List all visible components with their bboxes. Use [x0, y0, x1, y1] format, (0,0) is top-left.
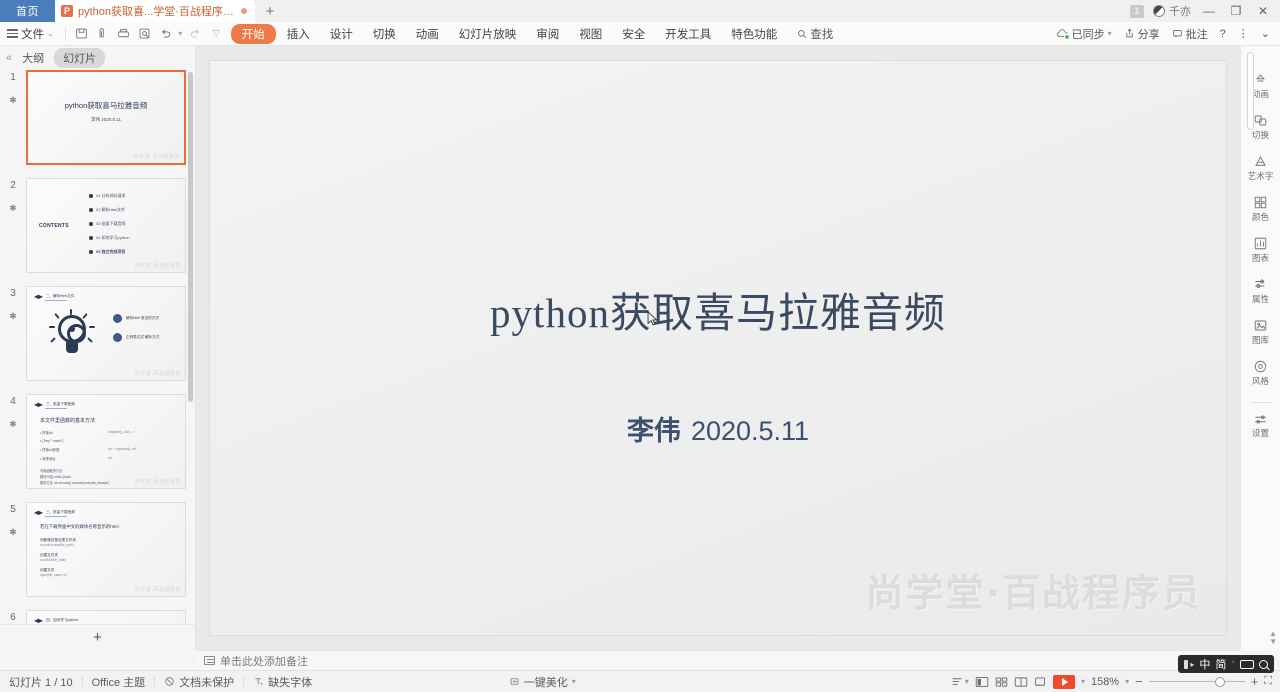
bullet-icon [89, 250, 93, 254]
rail-item-chart[interactable]: 图表 [1252, 236, 1269, 264]
thumb-item-list: 解析html 常见的方式 正则表达式 解析方式 [113, 314, 159, 342]
thumb-watermark: 尚学堂·百战程序员 [134, 153, 180, 160]
wps-presentation-window: 首页 P python获取喜...学堂·百战程序员】 + 1 千亦 — ❐ ✕ … [0, 0, 1280, 692]
code-block-code: os.path.exists(file_path) [40, 543, 177, 547]
comment-icon [1172, 28, 1183, 39]
slide-thumbnail-5[interactable]: 5 ✱ 三、批量下载音频 若在下载界面中文的媒体名称显示的html 判断路径是否… [4, 502, 195, 597]
share-icon [1124, 28, 1135, 39]
notes-view-button[interactable] [1034, 676, 1047, 688]
minimize-button[interactable]: — [1200, 4, 1218, 18]
sync-label: 已同步 [1072, 26, 1105, 42]
thumb-header: 二、解析html文件 [34, 293, 74, 300]
normal-view-button[interactable] [975, 676, 989, 688]
slide-thumbnail-image[interactable]: 三、批量下载音频 本文件里函数的基本方法 • 拼接url urlparse(),… [26, 394, 186, 489]
list-item-label: 正则表达式 解析方式 [126, 335, 159, 340]
graduation-cap-icon [34, 401, 43, 408]
slide-thumbnail-3[interactable]: 3 ✱ 二、解析html文件 [4, 286, 195, 381]
close-button[interactable]: ✕ [1254, 4, 1272, 18]
rail-label: 艺术字 [1248, 170, 1274, 182]
find-label: 查找 [810, 26, 833, 42]
title-bar: 首页 P python获取喜...学堂·百战程序员】 + 1 千亦 — ❐ ✕ [0, 0, 1280, 22]
tab-special-features[interactable]: 特色功能 [722, 24, 786, 44]
header-underline [45, 408, 67, 409]
current-slide[interactable]: python获取喜马拉雅音频 李伟2020.5.11 尚学堂·百战程序员 [209, 60, 1227, 636]
share-label: 分享 [1138, 26, 1160, 42]
slide-meta: 6 ✱ [4, 610, 22, 624]
mouse-cursor [647, 311, 658, 327]
notes-icon [204, 656, 215, 665]
file-menu-button[interactable]: 文件 ⌄ [0, 26, 60, 42]
unsaved-dot-icon [241, 8, 247, 14]
rail-label: 设置 [1252, 427, 1269, 439]
title-bar-right: 1 千亦 — ❐ ✕ [1130, 0, 1280, 22]
rail-item-style[interactable]: 风格 [1252, 359, 1269, 387]
beautify-button[interactable]: 一键美化 ▾ [509, 674, 576, 690]
thumb-header: 三、批量下载音频 [34, 401, 75, 408]
list-item: 01 分析网站请求 [89, 193, 130, 199]
thumb-subtitle: 李伟 2020.5.11 [28, 117, 184, 123]
fit-to-window-button[interactable]: ⛶ [1264, 675, 1272, 688]
thumb-header: 三、批量下载音频 [34, 509, 75, 516]
row-detail: urlparse(), dict, -> [108, 430, 135, 435]
canvas-nav-arrows[interactable]: ▲ ▼ [1269, 630, 1277, 646]
keyboard-icon[interactable] [1240, 660, 1254, 669]
collapse-ribbon-button[interactable]: ⌄ [1257, 25, 1274, 42]
animation-star-icon: ✱ [9, 527, 17, 538]
file-menu-label: 文件 [21, 26, 44, 42]
table-row: • {"key":"value"} [40, 439, 177, 443]
start-slideshow-button[interactable] [1053, 675, 1075, 689]
slide-thumbnail-image[interactable]: python获取喜马拉雅音频 李伟 2020.5.11 尚学堂·百战程序员 [26, 70, 186, 165]
thumb-contents-label: CONTENTS [39, 223, 69, 229]
animation-star-icon: ✱ [9, 203, 17, 214]
save-as-icon[interactable] [92, 24, 113, 44]
share-button[interactable]: 分享 [1120, 24, 1164, 44]
collapse-panel-button[interactable]: « [6, 52, 12, 64]
slide-panel: « 大纲 幻灯片 1 ✱ python获取喜马拉雅音频 李伟 2020.5.11… [0, 46, 196, 650]
color-icon [1253, 195, 1268, 210]
settings-icon [1253, 413, 1268, 426]
rail-label: 图表 [1252, 252, 1269, 264]
search-icon [797, 29, 807, 39]
thumb-header-label: 三、批量下载音频 [46, 402, 75, 407]
rail-item-transition[interactable]: 切换 [1252, 113, 1269, 141]
row-label: • {"key":"value"} [40, 439, 108, 443]
animation-icon [1253, 72, 1268, 87]
animation-star-icon: ✱ [9, 95, 17, 106]
animation-star-icon: ✱ [9, 419, 17, 430]
chevron-down-icon: ▾ [572, 677, 576, 686]
thumb-watermark: 尚学堂·百战程序员 [135, 370, 181, 377]
zoom-slider[interactable] [1149, 676, 1245, 688]
slide-watermark: 尚学堂·百战程序员 [866, 562, 1202, 617]
find-button[interactable]: 查找 [788, 24, 842, 44]
slide-meta: 5 ✱ [4, 502, 22, 597]
list-item-label: 01 分析网站请求 [96, 193, 126, 199]
slide-number: 1 [10, 72, 16, 83]
thumb-body: 若在下载界面中文的媒体名称显示的html 判断路径是否是文件夹 os.path.… [40, 524, 177, 583]
code-block: 创建文件夹 os.mkdir(file_path) [40, 553, 177, 562]
slide-sorter-button[interactable] [995, 676, 1008, 688]
protection-status[interactable]: 文档未保护 [155, 674, 243, 690]
rail-item-gallery[interactable]: 图库 [1252, 318, 1269, 346]
row-detail: url [108, 456, 112, 461]
animation-star-icon: ✱ [9, 311, 17, 322]
font-missing-status[interactable]: 缺失字体 [244, 674, 321, 690]
list-item-label: 解析html 常见的方式 [126, 316, 159, 321]
slide-date: 2020.5.11 [691, 416, 809, 446]
sync-status-button[interactable]: 已同步 ▾ [1052, 24, 1116, 44]
divider [65, 27, 66, 41]
notes-pane[interactable]: 单击此处添加备注 [196, 650, 1240, 670]
code-block-code: os.mkdir(file_path) [40, 558, 177, 562]
rail-label: 风格 [1252, 375, 1269, 387]
avatar [1153, 5, 1165, 17]
row-label: • 请求地址 [40, 456, 108, 461]
help-button[interactable]: ? [1216, 26, 1230, 42]
comment-button[interactable]: 批注 [1168, 24, 1212, 44]
sync-ok-dot [1064, 34, 1070, 40]
slide-thumbnail-image[interactable]: 四、如何学习python 我应该要学习什么 1. 学习的基础 2. 框架及原理(… [26, 610, 186, 624]
slide-thumbnail-image[interactable]: CONTENTS 01 分析网站请求 02 解析html文件 03 批量下 [26, 178, 186, 273]
beautify-label: 一键美化 [524, 674, 568, 690]
number-badge-icon [113, 333, 122, 342]
slide-panel-footer: + [0, 624, 195, 650]
rail-item-settings[interactable]: 设置 [1252, 413, 1269, 439]
gallery-icon [1253, 318, 1268, 333]
rail-label: 属性 [1252, 293, 1269, 305]
tab-security[interactable]: 安全 [613, 24, 654, 44]
rail-label: 图库 [1252, 334, 1269, 346]
tab-slides[interactable]: 幻灯片 [54, 48, 105, 68]
bullet-icon [89, 236, 93, 240]
ribbon-toolbar: 文件 ⌄ ▾ [0, 22, 1280, 46]
thumb-watermark: 尚学堂·百战程序员 [135, 262, 181, 269]
slide-meta: 3 ✱ [4, 286, 22, 381]
shield-icon [164, 676, 175, 687]
slide-panel-scrollbar[interactable] [188, 72, 193, 402]
rail-label: 颜色 [1252, 211, 1269, 223]
list-item: 03 批量下载音频 [89, 221, 130, 227]
document-tab-label: python获取喜...学堂·百战程序员】 [78, 3, 236, 19]
list-item-label: 04 如何学习python [96, 235, 130, 241]
bullet-icon [89, 208, 93, 212]
thumb-header-label: 二、解析html文件 [46, 294, 74, 299]
graduation-cap-icon [34, 509, 43, 516]
table-row: • 请求地址 url [40, 456, 177, 461]
home-tab[interactable]: 首页 [0, 0, 55, 22]
search-icon[interactable] [1259, 660, 1268, 669]
status-bar-right: ▾ [951, 675, 1280, 689]
slide-number: 6 [10, 612, 16, 623]
ribbon-right-actions: 已同步 ▾ 分享 批注 ? ⋮ ⌄ [1052, 24, 1280, 44]
thumb-header: 四、如何学习python [34, 617, 78, 624]
row-label: • 拼接url [40, 430, 108, 435]
tab-animation[interactable]: 动画 [407, 24, 448, 44]
zoom-dropdown-icon[interactable]: ▾ [1125, 677, 1129, 686]
ribbon-tabs: 开始 插入 设计 切换 动画 幻灯片放映 审阅 视图 安全 开发工具 特色功能 … [231, 24, 843, 44]
thumb-title: python获取喜马拉雅音频 [28, 100, 184, 111]
chart-icon [1253, 236, 1268, 251]
zoom-out-button[interactable]: − [1135, 675, 1143, 688]
graduation-cap-icon [34, 617, 43, 624]
thumb-heading: 本文件里函数的基本方法 [40, 417, 177, 424]
chevron-down-icon: ⌄ [47, 29, 54, 38]
rail-label: 切换 [1252, 129, 1269, 141]
code-block-code: open(file_name,'w') [40, 573, 177, 577]
tab-outline[interactable]: 大纲 [22, 50, 44, 66]
style-icon [1253, 359, 1268, 374]
undo-dropdown-icon[interactable]: ▾ [176, 24, 185, 44]
zoom-slider-knob[interactable] [1215, 677, 1225, 687]
next-slide-arrow-icon[interactable]: ▼ [1269, 638, 1277, 646]
thumb-header-label: 三、批量下载音频 [46, 510, 75, 515]
slide-count-status: 幻灯片 1 / 10 [0, 674, 82, 690]
header-underline [45, 300, 67, 301]
slide-title-text[interactable]: python获取喜马拉雅音频 [210, 279, 1226, 339]
slide-number: 4 [10, 396, 16, 407]
thumb-watermark: 尚学堂·百战程序员 [135, 478, 181, 485]
table-row: • 拼接url参数 str + urlparse(), url [40, 447, 177, 452]
tab-transition[interactable]: 切换 [364, 24, 405, 44]
wordart-icon [1253, 154, 1268, 169]
row-detail: str + urlparse(), url [108, 447, 136, 452]
zoom-in-button[interactable]: + [1251, 675, 1259, 688]
theme-status[interactable]: Office 主题 [83, 674, 155, 690]
thumb-heading: 若在下载界面中文的媒体名称显示的html [40, 524, 177, 530]
more-quick-access-icon[interactable]: ▽ [206, 24, 227, 44]
rail-item-properties[interactable]: 属性 [1252, 277, 1269, 305]
properties-icon [1253, 277, 1268, 292]
row-label: • 拼接url参数 [40, 447, 108, 452]
cloud-sync-icon [1056, 28, 1069, 39]
header-underline [45, 516, 67, 517]
font-icon [253, 676, 264, 687]
chevron-down-icon[interactable]: ▾ [1081, 677, 1085, 686]
chevron-down-icon: ▾ [965, 677, 969, 686]
add-slide-button[interactable]: + [93, 629, 102, 646]
rail-item-wordart[interactable]: 艺术字 [1248, 154, 1274, 182]
slide-number: 2 [10, 180, 16, 191]
protection-label: 文档未保护 [179, 674, 234, 690]
tab-design[interactable]: 设计 [321, 24, 362, 44]
graduation-cap-icon [34, 293, 43, 300]
more-options-button[interactable]: ⋮ [1234, 25, 1253, 42]
print-preview-icon[interactable] [134, 24, 155, 44]
document-tab[interactable]: P python获取喜...学堂·百战程序员】 [55, 0, 255, 22]
thumb-body: 本文件里函数的基本方法 • 拼接url urlparse(), dict, ->… [40, 417, 177, 486]
thumb-header-label: 四、如何学习python [46, 618, 78, 623]
slide-thumbnail-image[interactable]: 三、批量下载音频 若在下载界面中文的媒体名称显示的html 判断路径是否是文件夹… [26, 502, 186, 597]
outline-view-button[interactable]: ▾ [951, 676, 969, 688]
maximize-button[interactable]: ❐ [1227, 4, 1245, 18]
save-icon[interactable] [71, 24, 92, 44]
powerpoint-file-icon: P [61, 5, 73, 17]
bullet-icon [89, 194, 93, 198]
rail-item-animation[interactable]: 动画 [1252, 72, 1269, 100]
chevron-down-icon: ▾ [1108, 29, 1112, 38]
thumb-bullet-list: 01 分析网站请求 02 解析html文件 03 批量下载音频 04 [89, 193, 130, 255]
list-item: 04 如何学习python [89, 235, 130, 241]
slide-panel-header: « 大纲 幻灯片 [0, 46, 195, 70]
slide-thumbnail-2[interactable]: 2 ✱ CONTENTS 01 分析网站请求 02 解析html文件 [4, 178, 195, 273]
notification-badge[interactable]: 1 [1130, 5, 1144, 18]
thumb-watermark: 尚学堂·百战程序员 [135, 586, 181, 593]
tab-developer-tools[interactable]: 开发工具 [656, 24, 720, 44]
new-tab-label: + [266, 3, 275, 20]
tab-view[interactable]: 视图 [570, 24, 611, 44]
code-block: 判断路径是否是文件夹 os.path.exists(file_path) [40, 538, 177, 547]
divider [1250, 402, 1272, 403]
magic-wand-icon [509, 676, 520, 687]
list-item-label: 05 独立完成项目 [96, 249, 126, 255]
lightbulb-icon [49, 309, 95, 361]
zoom-slider-track [1149, 681, 1245, 682]
comment-label: 批注 [1186, 26, 1208, 42]
tab-insert[interactable]: 插入 [278, 24, 319, 44]
print-icon[interactable] [113, 24, 134, 44]
hamburger-icon [7, 29, 18, 38]
slide-thumbnail-4[interactable]: 4 ✱ 三、批量下载音频 本文件里函数的基本方法 • 拼接url urlpars… [4, 394, 195, 489]
table-row: • 拼接url urlparse(), dict, -> [40, 430, 177, 435]
redo-icon[interactable] [185, 24, 206, 44]
canvas-scrollbar[interactable] [1247, 52, 1254, 130]
list-item: 正则表达式 解析方式 [113, 333, 159, 342]
tab-review[interactable]: 审阅 [527, 24, 568, 44]
rail-item-color[interactable]: 颜色 [1252, 195, 1269, 223]
notes-placeholder: 单击此处添加备注 [220, 653, 308, 669]
font-missing-label: 缺失字体 [268, 674, 312, 690]
number-badge-icon [113, 314, 122, 323]
slide-thumbnail-list[interactable]: 1 ✱ python获取喜马拉雅音频 李伟 2020.5.11 尚学堂·百战程序… [0, 70, 195, 624]
list-item: 解析html 常见的方式 [113, 314, 159, 323]
user-account[interactable]: 千亦 [1153, 3, 1191, 19]
code-block: 创建文件 open(file_name,'w') [40, 568, 177, 577]
user-name: 千亦 [1169, 3, 1191, 19]
slide-author: 李伟 [627, 416, 681, 446]
slide-meta: 4 ✱ [4, 394, 22, 489]
reading-view-button[interactable] [1014, 676, 1028, 688]
slide-meta: 2 ✱ [4, 178, 22, 273]
zoom-level-label[interactable]: 158% [1091, 676, 1119, 688]
home-tab-label: 首页 [16, 3, 39, 19]
bullet-icon [89, 222, 93, 226]
rail-label: 动画 [1252, 88, 1269, 100]
ime-shape-label[interactable]: 简 [1215, 656, 1226, 672]
right-tool-rail: 动画 切换 艺术字 颜色 图表 [1240, 46, 1280, 650]
slide-number: 5 [10, 504, 16, 515]
list-item-label: 02 解析html文件 [96, 207, 125, 213]
undo-icon[interactable] [155, 24, 176, 44]
slide-thumbnail-6[interactable]: 6 ✱ 四、如何学习python 我应该要学习什么 1. 学习的基础 2. 框架… [4, 610, 195, 624]
slide-meta: 1 ✱ [4, 70, 22, 165]
tab-slideshow[interactable]: 幻灯片放映 [450, 24, 526, 44]
ime-drag-handle[interactable]: ▸ [1184, 660, 1194, 669]
slide-thumbnail-1[interactable]: 1 ✱ python获取喜马拉雅音频 李伟 2020.5.11 尚学堂·百战程序… [4, 70, 195, 165]
ime-punct-label[interactable]: ° [1231, 659, 1235, 669]
ime-toolbar[interactable]: ▸ 中 简 ° [1178, 655, 1274, 673]
tab-start[interactable]: 开始 [231, 24, 276, 44]
slide-canvas-area[interactable]: python获取喜马拉雅音频 李伟2020.5.11 尚学堂·百战程序员 [196, 46, 1240, 650]
status-bar: 幻灯片 1 / 10 Office 主题 文档未保护 缺失字体 一键美化 ▾ [0, 670, 1280, 692]
list-item: 05 独立完成项目 [89, 249, 130, 255]
ime-mode-label[interactable]: 中 [1199, 656, 1210, 672]
slide-subtitle-text[interactable]: 李伟2020.5.11 [210, 409, 1226, 448]
new-tab-button[interactable]: + [255, 0, 285, 22]
grip-icon [1184, 660, 1188, 669]
slide-thumbnail-image[interactable]: 二、解析html文件 [26, 286, 186, 381]
slide-number: 3 [10, 288, 16, 299]
list-item: 02 解析html文件 [89, 207, 130, 213]
transition-icon [1253, 113, 1268, 128]
list-item-label: 03 批量下载音频 [96, 221, 126, 227]
